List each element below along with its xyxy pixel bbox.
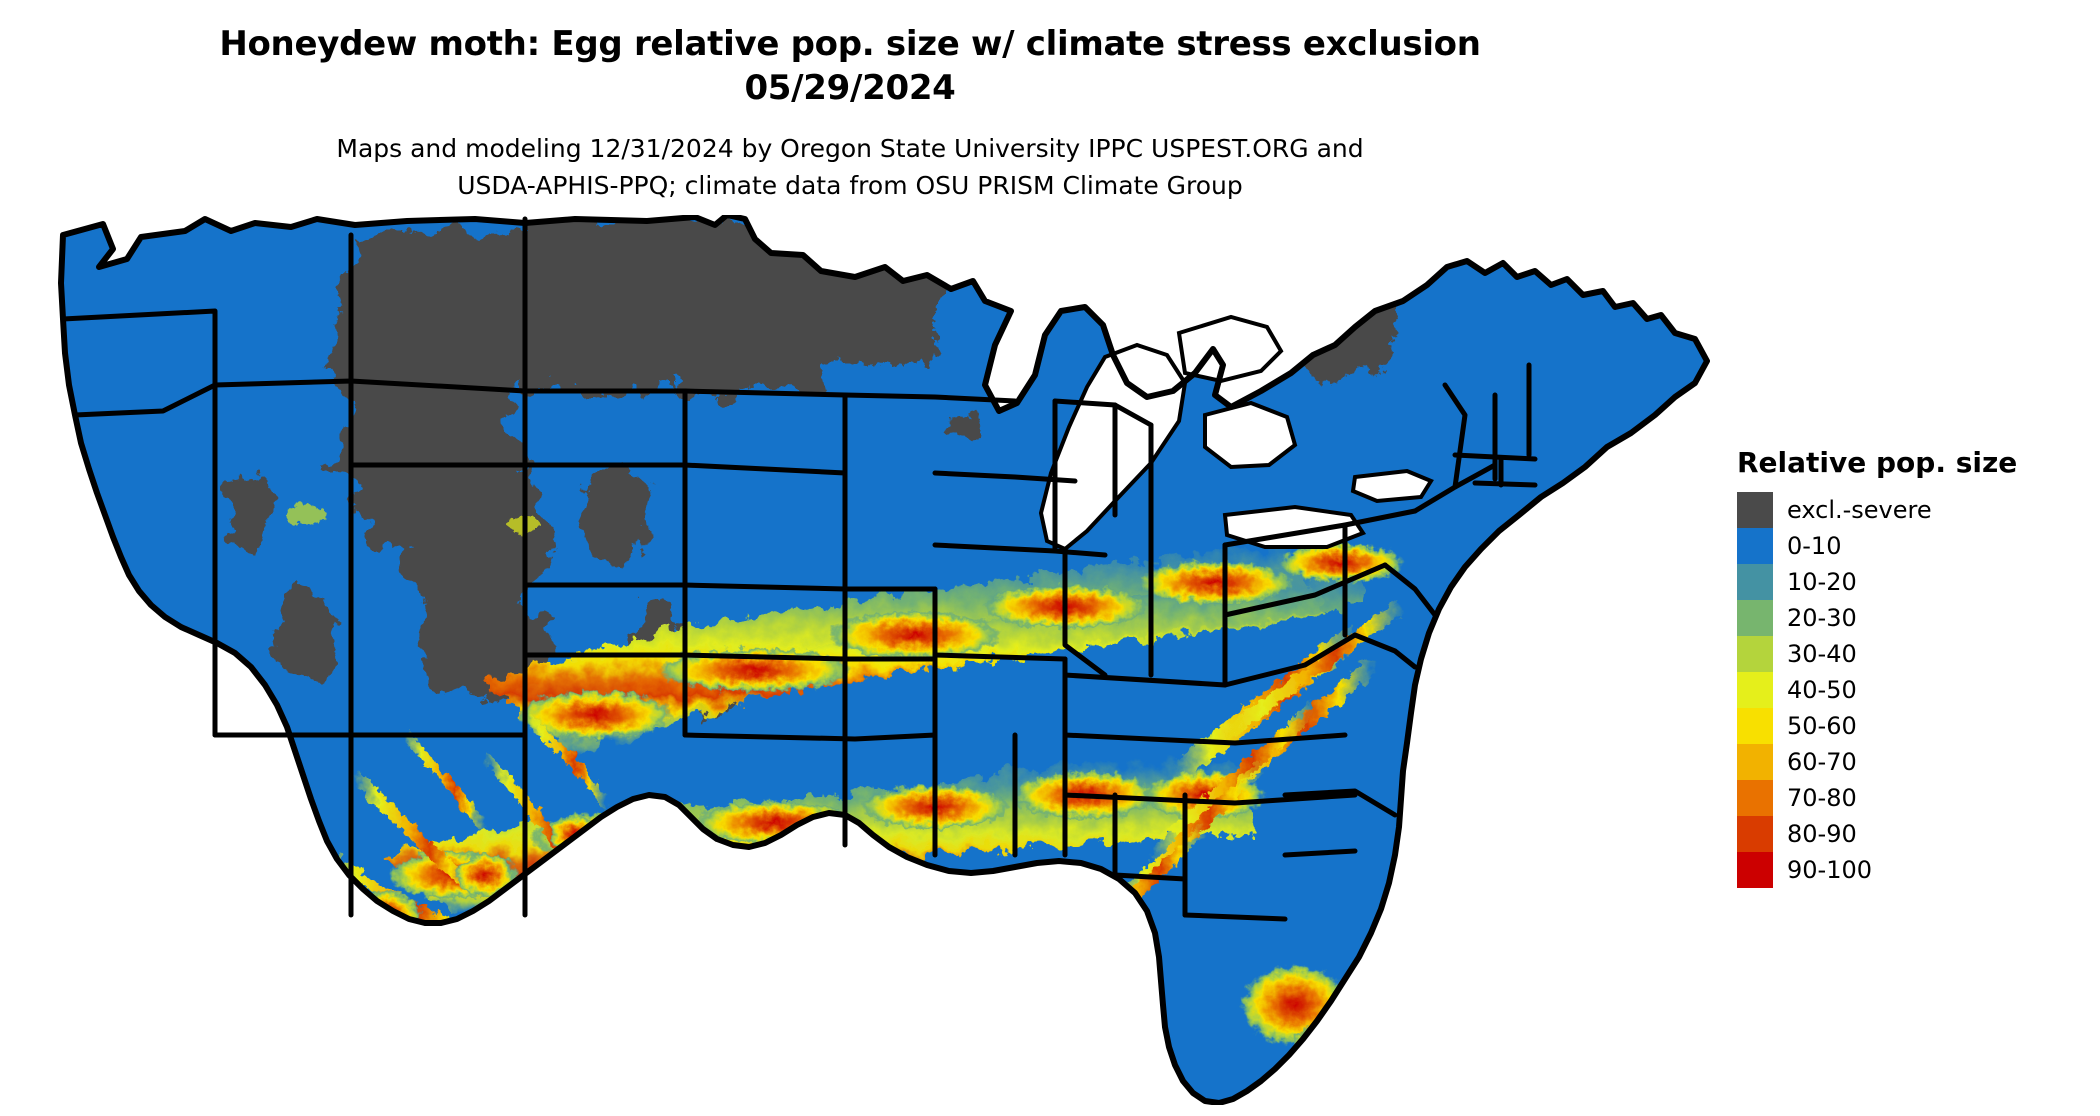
legend-label-40-50: 40-50 (1787, 677, 1857, 703)
legend-row-90-100[interactable]: 90-100 (1737, 852, 2067, 888)
legend-swatch-10-20 (1737, 564, 1773, 600)
legend-swatch-excl-severe (1737, 492, 1773, 528)
subtitle-line-2: USDA-APHIS-PPQ; climate data from OSU PR… (0, 167, 1700, 204)
legend-label-0-10: 0-10 (1787, 533, 1841, 559)
legend-swatch-40-50 (1737, 672, 1773, 708)
lake-ontario (1353, 471, 1431, 501)
map-legend: Relative pop. size excl.-severe 0-10 10-… (1737, 448, 2067, 888)
subtitle-line-1: Maps and modeling 12/31/2024 by Oregon S… (0, 130, 1700, 167)
legend-entries: excl.-severe 0-10 10-20 20-30 30-40 40-5 (1737, 492, 2067, 888)
legend-row-60-70[interactable]: 60-70 (1737, 744, 2067, 780)
legend-row-10-20[interactable]: 10-20 (1737, 564, 2067, 600)
legend-row-excl-severe[interactable]: excl.-severe (1737, 492, 2067, 528)
legend-label-60-70: 60-70 (1787, 749, 1857, 775)
page-title: Honeydew moth: Egg relative pop. size w/… (0, 22, 1700, 110)
title-line-2: 05/29/2024 (0, 66, 1700, 110)
legend-row-80-90[interactable]: 80-90 (1737, 816, 2067, 852)
legend-title: Relative pop. size (1737, 448, 2067, 478)
legend-label-80-90: 80-90 (1787, 821, 1857, 847)
legend-label-70-80: 70-80 (1787, 785, 1857, 811)
legend-label-20-30: 20-30 (1787, 605, 1857, 631)
map-page: Honeydew moth: Egg relative pop. size w/… (0, 0, 2100, 1116)
legend-swatch-70-80 (1737, 780, 1773, 816)
legend-label-90-100: 90-100 (1787, 857, 1872, 883)
page-subtitle: Maps and modeling 12/31/2024 by Oregon S… (0, 130, 1700, 204)
legend-swatch-30-40 (1737, 636, 1773, 672)
legend-row-30-40[interactable]: 30-40 (1737, 636, 2067, 672)
legend-swatch-80-90 (1737, 816, 1773, 852)
legend-swatch-50-60 (1737, 708, 1773, 744)
us-choropleth-map (55, 215, 1715, 1105)
legend-label-30-40: 30-40 (1787, 641, 1857, 667)
ct-ri-line (1475, 483, 1535, 485)
map-svg (55, 215, 1715, 1105)
title-line-1: Honeydew moth: Egg relative pop. size w/… (0, 22, 1700, 66)
legend-row-70-80[interactable]: 70-80 (1737, 780, 2067, 816)
legend-row-40-50[interactable]: 40-50 (1737, 672, 2067, 708)
legend-row-50-60[interactable]: 50-60 (1737, 708, 2067, 744)
legend-label-10-20: 10-20 (1787, 569, 1857, 595)
legend-label-50-60: 50-60 (1787, 713, 1857, 739)
legend-swatch-90-100 (1737, 852, 1773, 888)
legend-row-20-30[interactable]: 20-30 (1737, 600, 2067, 636)
legend-label-excl-severe: excl.-severe (1787, 497, 1932, 523)
legend-swatch-20-30 (1737, 600, 1773, 636)
legend-row-0-10[interactable]: 0-10 (1737, 528, 2067, 564)
legend-swatch-0-10 (1737, 528, 1773, 564)
legend-swatch-60-70 (1737, 744, 1773, 780)
